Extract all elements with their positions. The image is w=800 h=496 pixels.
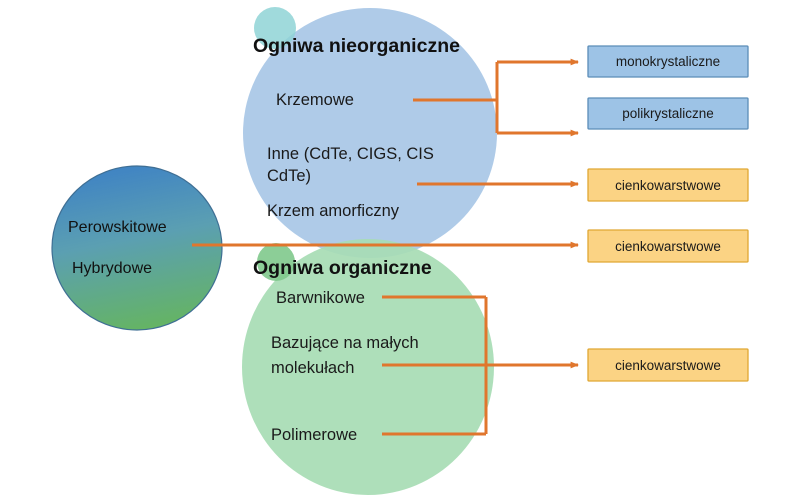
item-perowskitowe: Perowskitowe: [68, 219, 167, 236]
diagram-canvas: monokrystaliczne polikrystaliczne cienko…: [0, 0, 800, 496]
item-inne-line2: CdTe): [267, 167, 311, 185]
result-box-monokrystaliczne[interactable]: monokrystaliczne: [588, 46, 748, 77]
result-box-label: monokrystaliczne: [616, 54, 720, 69]
item-hybrydowe: Hybrydowe: [72, 260, 152, 277]
result-box-cienkowarstwowe-2[interactable]: cienkowarstwowe: [588, 230, 748, 262]
result-box-cienkowarstwowe-1[interactable]: cienkowarstwowe: [588, 169, 748, 201]
item-krzem-amorficzny: Krzem amorficzny: [267, 202, 400, 220]
item-krzemowe: Krzemowe: [276, 91, 354, 109]
result-box-label: cienkowarstwowe: [615, 239, 721, 254]
organic-group-title: Ogniwa organiczne: [253, 257, 432, 279]
solar-cell-classification-diagram: monokrystaliczne polikrystaliczne cienko…: [0, 0, 800, 496]
perovskite-hybrid-circle: [52, 166, 222, 330]
item-bazujace-line1: Bazujące na małych: [271, 334, 419, 352]
item-polimerowe: Polimerowe: [271, 426, 357, 444]
result-box-cienkowarstwowe-3[interactable]: cienkowarstwowe: [588, 349, 748, 381]
result-box-label: polikrystaliczne: [622, 106, 714, 121]
result-box-label: cienkowarstwowe: [615, 178, 721, 193]
item-bazujace-line2: molekułach: [271, 359, 354, 377]
result-box-polikrystaliczne[interactable]: polikrystaliczne: [588, 98, 748, 129]
inorganic-group-title: Ogniwa nieorganiczne: [253, 35, 460, 57]
item-barwnikowe: Barwnikowe: [276, 289, 365, 307]
result-box-label: cienkowarstwowe: [615, 358, 721, 373]
item-inne-line1: Inne (CdTe, CIGS, CIS: [267, 145, 434, 163]
